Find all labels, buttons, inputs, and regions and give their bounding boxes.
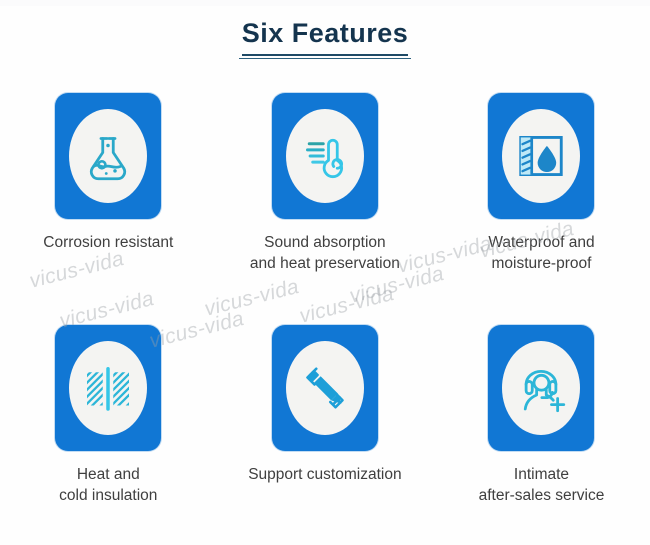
features-grid: Corrosion resistant [0,93,650,545]
insulation-hatch-icon [80,360,136,416]
water-drop-panel-icon [514,129,568,183]
feature-icon-tile[interactable] [272,325,378,451]
feature-label: Waterproof and moisture-proof [488,233,594,274]
feature-card-after-sales-service[interactable]: Intimate after-sales service [433,325,650,545]
icon-disc [286,109,364,203]
feature-label: Heat and cold insulation [59,465,157,506]
page-title-container: Six Features [0,18,650,56]
icon-disc [69,109,147,203]
feature-icon-tile[interactable] [488,325,594,451]
top-edge-band [0,0,650,6]
feature-icon-tile[interactable] [272,93,378,219]
icon-disc [69,341,147,435]
feature-icon-tile[interactable] [488,93,594,219]
feature-card-corrosion-resistant[interactable]: Corrosion resistant [0,93,217,325]
icon-disc [502,341,580,435]
features-row-2: Heat and cold insulation [0,325,650,545]
page-title: Six Features [242,18,409,56]
feature-highlights-page: vicus-vidavicus-vidavicus-vidavicus-vida… [0,0,650,545]
feature-label: Support customization [248,465,401,486]
feature-icon-tile[interactable] [55,325,161,451]
pencil-ruler-icon [297,360,353,416]
feature-card-insulation[interactable]: Heat and cold insulation [0,325,217,545]
feature-card-sound-absorption[interactable]: Sound absorption and heat preservation [217,93,434,325]
feature-icon-tile[interactable] [55,93,161,219]
feature-card-customization[interactable]: Support customization [217,325,434,545]
flask-icon [80,128,136,184]
icon-disc [502,109,580,203]
feature-label: Sound absorption and heat preservation [250,233,400,274]
icon-disc [286,341,364,435]
feature-label: Intimate after-sales service [479,465,605,506]
feature-label: Corrosion resistant [43,233,173,254]
feature-card-waterproof[interactable]: Waterproof and moisture-proof [433,93,650,325]
features-row-1: Corrosion resistant [0,93,650,325]
headset-person-plus-icon [513,360,569,416]
thermometer-icon [297,128,353,184]
